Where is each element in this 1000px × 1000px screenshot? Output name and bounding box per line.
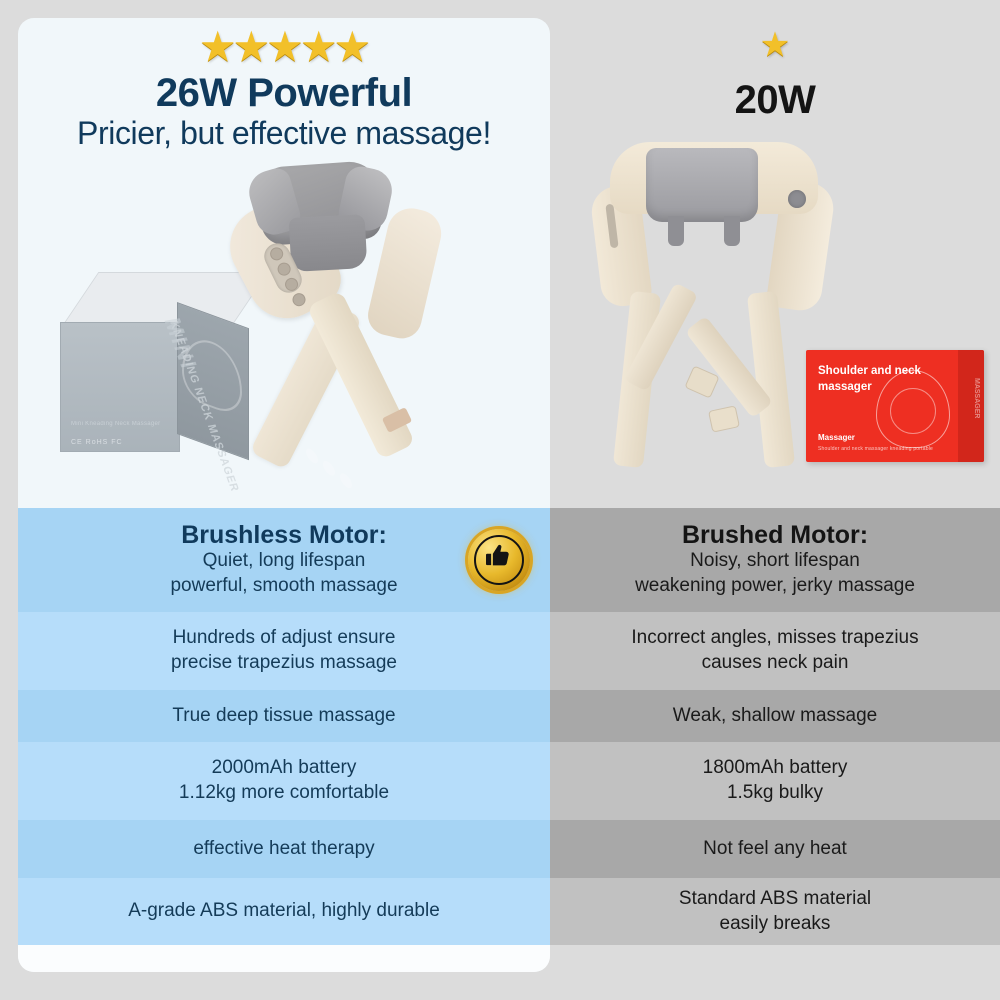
star-icon: ★ xyxy=(266,26,302,68)
left-rating-stars: ★★★★★ xyxy=(18,26,550,68)
left-card-footer xyxy=(18,945,550,972)
left-feature-title: Brushless Motor: xyxy=(181,522,387,550)
left-feature-line: True deep tissue massage xyxy=(172,704,395,729)
right-feature-title: Brushed Motor: xyxy=(682,522,868,550)
table-row: Hundreds of adjust ensure precise trapez… xyxy=(18,612,1000,690)
comparison-table: Brushless Motor: Quiet, long lifespan po… xyxy=(18,508,1000,945)
star-icon: ★ xyxy=(760,28,790,62)
table-row: 2000mAh battery 1.12kg more comfortable … xyxy=(18,742,1000,820)
table-cell-left: Hundreds of adjust ensure precise trapez… xyxy=(18,612,550,690)
infographic-canvas: ★★★★★ 26W Powerful Pricier, but effectiv… xyxy=(0,0,1000,1000)
star-icon: ★ xyxy=(199,26,235,68)
right-feature-line: weakening power, jerky massage xyxy=(635,574,915,599)
thumbs-up-badge xyxy=(468,529,530,591)
table-cell-left: 2000mAh battery 1.12kg more comfortable xyxy=(18,742,550,820)
table-cell-right: Incorrect angles, misses trapezius cause… xyxy=(550,612,1000,690)
table-row: True deep tissue massage Weak, shallow m… xyxy=(18,690,1000,742)
table-cell-right: 1800mAh battery 1.5kg bulky xyxy=(550,742,1000,820)
table-cell-right: Not feel any heat xyxy=(550,820,1000,878)
table-cell-left: True deep tissue massage xyxy=(18,690,550,742)
left-title: 26W Powerful xyxy=(18,72,550,114)
left-feature-line: precise trapezius massage xyxy=(171,651,397,676)
right-feature-line: Incorrect angles, misses trapezius xyxy=(631,626,918,651)
left-feature-line: 1.12kg more comfortable xyxy=(179,781,389,806)
left-feature-line: effective heat therapy xyxy=(193,837,374,862)
right-rating-stars: ★ xyxy=(550,28,1000,62)
table-cell-right: Weak, shallow massage xyxy=(550,690,1000,742)
right-feature-line: causes neck pain xyxy=(702,651,849,676)
table-cell-left: Brushless Motor: Quiet, long lifespan po… xyxy=(18,508,550,612)
right-feature-line: 1.5kg bulky xyxy=(727,781,823,806)
table-cell-right: Brushed Motor: Noisy, short lifespan wea… xyxy=(550,508,1000,612)
left-feature-line: Hundreds of adjust ensure xyxy=(173,626,396,651)
right-feature-line: easily breaks xyxy=(720,912,831,937)
table-cell-left: effective heat therapy xyxy=(18,820,550,878)
left-feature-line: 2000mAh battery xyxy=(212,756,357,781)
left-feature-line: A-grade ABS material, highly durable xyxy=(128,899,440,924)
left-feature-line: Quiet, long lifespan xyxy=(203,549,366,574)
right-feature-line: Standard ABS material xyxy=(679,887,871,912)
left-feature-line: powerful, smooth massage xyxy=(170,574,397,599)
right-feature-line: Weak, shallow massage xyxy=(673,704,878,729)
right-feature-line: Noisy, short lifespan xyxy=(690,549,860,574)
table-row: Brushless Motor: Quiet, long lifespan po… xyxy=(18,508,1000,612)
table-cell-left: A-grade ABS material, highly durable xyxy=(18,878,550,945)
thumbs-up-icon xyxy=(484,541,514,577)
right-title: 20W xyxy=(550,78,1000,123)
right-feature-line: 1800mAh battery xyxy=(703,756,848,781)
right-feature-line: Not feel any heat xyxy=(703,837,847,862)
table-row: A-grade ABS material, highly durable Sta… xyxy=(18,878,1000,945)
left-subtitle: Pricier, but effective massage! xyxy=(18,115,550,152)
table-row: effective heat therapy Not feel any heat xyxy=(18,820,1000,878)
star-icon: ★ xyxy=(233,26,269,68)
table-cell-right: Standard ABS material easily breaks xyxy=(550,878,1000,945)
right-column-footer xyxy=(550,945,1000,1000)
star-icon: ★ xyxy=(300,26,336,68)
star-icon: ★ xyxy=(333,26,369,68)
